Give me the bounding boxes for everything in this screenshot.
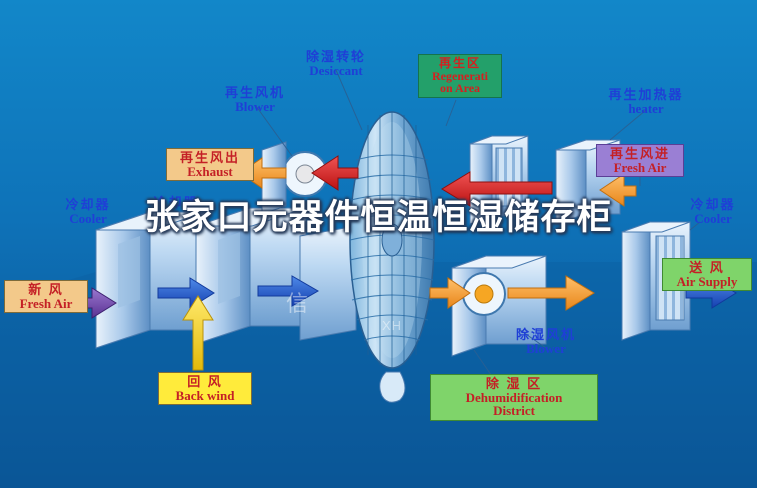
label-exhaust: 再生风出 Exhaust bbox=[166, 148, 254, 181]
supply-duct-left bbox=[300, 226, 356, 340]
label-desiccant-wheel-cn: 除湿转轮 bbox=[288, 50, 384, 64]
label-fresh-air-in-en: Fresh Air bbox=[10, 297, 82, 311]
label-fresh-air-in-cn: 新 风 bbox=[10, 283, 82, 297]
label-cooler-left-en: Cooler bbox=[50, 212, 126, 226]
label-regeneration-fresh-air-cn: 再生风进 bbox=[602, 147, 678, 161]
label-cooler-right-cn: 冷却器 bbox=[674, 198, 752, 212]
label-desiccant-wheel: 除湿转轮 Desiccant bbox=[288, 50, 384, 77]
label-regeneration-area-en: Regenerati on Area bbox=[424, 70, 496, 95]
regeneration-duct bbox=[470, 136, 528, 224]
label-dehumidification-blower-en: Blower bbox=[502, 342, 590, 356]
label-regeneration-blower: 再生风机 Blower bbox=[214, 86, 296, 113]
cooler-mid-unit bbox=[196, 208, 306, 344]
label-back-wind-cn: 回 风 bbox=[164, 375, 246, 389]
diagram-canvas: 除湿转轮 Desiccant 再生区 Regenerati on Area 再生… bbox=[0, 0, 757, 488]
label-cooler-mid: 冷却器 bbox=[138, 196, 214, 210]
label-air-supply-cn: 送 风 bbox=[668, 261, 746, 275]
label-cooler-right-en: Cooler bbox=[674, 212, 752, 226]
label-regeneration-heater-cn: 再生加热器 bbox=[594, 88, 698, 102]
label-dehumidification-blower: 除湿风机 Blower bbox=[502, 328, 590, 355]
label-regeneration-blower-en: Blower bbox=[214, 100, 296, 114]
label-regeneration-fresh-air-en: Fresh Air bbox=[602, 161, 678, 175]
label-air-supply-en: Air Supply bbox=[668, 275, 746, 289]
label-dehumidification-district: 除 湿 区 Dehumidification District bbox=[430, 374, 598, 421]
label-regeneration-heater-en: heater bbox=[594, 102, 698, 116]
label-regeneration-area: 再生区 Regenerati on Area bbox=[418, 54, 502, 98]
label-dehumidification-blower-cn: 除湿风机 bbox=[502, 328, 590, 342]
label-air-supply: 送 风 Air Supply bbox=[662, 258, 752, 291]
label-regeneration-blower-cn: 再生风机 bbox=[214, 86, 296, 100]
label-back-wind: 回 风 Back wind bbox=[158, 372, 252, 405]
label-dehumidification-district-en: Dehumidification District bbox=[436, 391, 592, 418]
label-dehumidification-district-cn: 除 湿 区 bbox=[436, 377, 592, 391]
label-fresh-air-in: 新 风 Fresh Air bbox=[4, 280, 88, 313]
label-cooler-mid-cn: 冷却器 bbox=[138, 196, 214, 210]
label-back-wind-en: Back wind bbox=[164, 389, 246, 403]
label-exhaust-en: Exhaust bbox=[172, 165, 248, 179]
label-regeneration-fresh-air: 再生风进 Fresh Air bbox=[596, 144, 684, 177]
label-cooler-left: 冷却器 Cooler bbox=[50, 198, 126, 225]
label-exhaust-cn: 再生风出 bbox=[172, 151, 248, 165]
label-cooler-left-cn: 冷却器 bbox=[50, 198, 126, 212]
label-desiccant-wheel-en: Desiccant bbox=[288, 64, 384, 78]
label-regeneration-heater: 再生加热器 heater bbox=[594, 88, 698, 115]
label-cooler-right: 冷却器 Cooler bbox=[674, 198, 752, 225]
label-regeneration-area-cn: 再生区 bbox=[424, 57, 496, 70]
